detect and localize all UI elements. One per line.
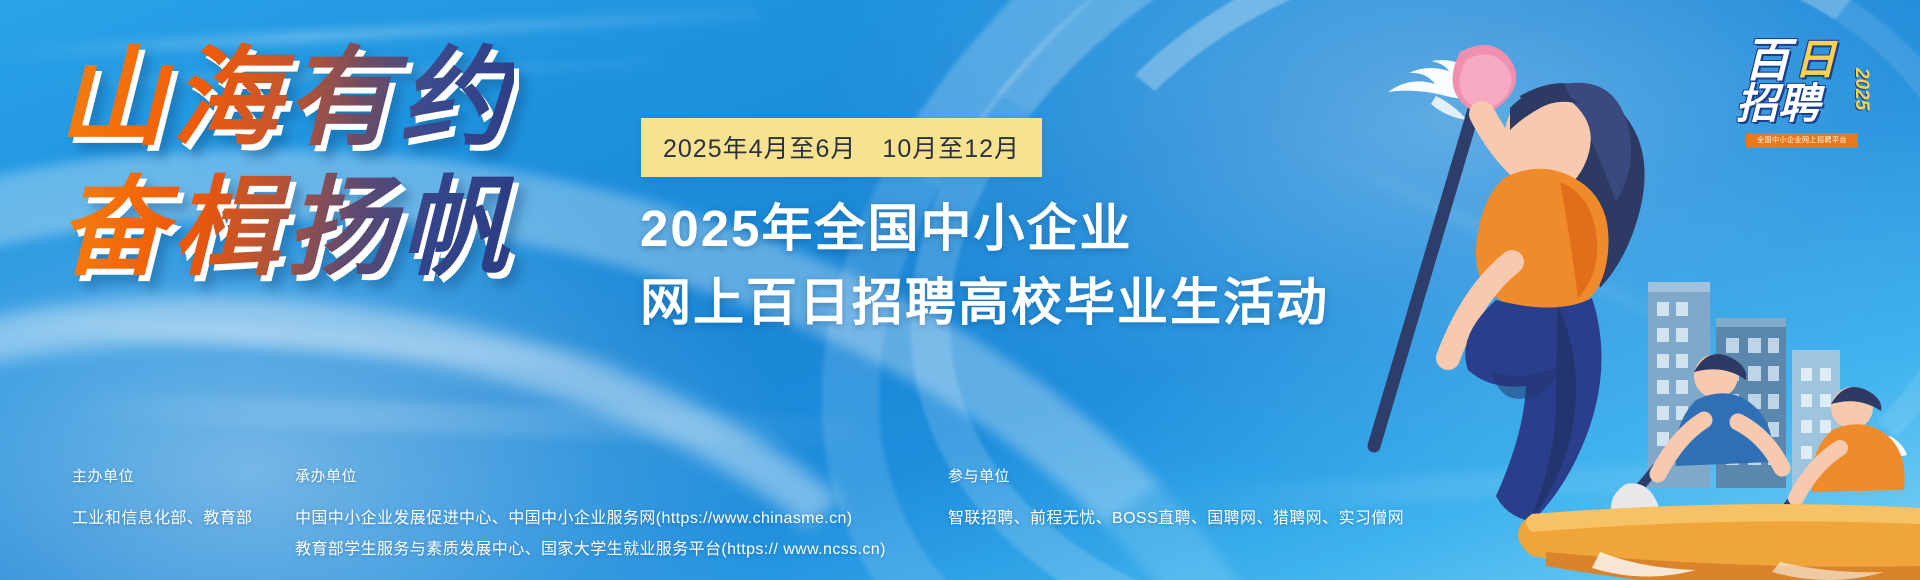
light-streak-decoration	[60, 390, 861, 448]
footer-column-participants: 参与单位 智联招聘、前程无忧、BOSS直聘、国聘网、猎聘网、实习僧网	[948, 465, 1404, 534]
light-streak-decoration	[1303, 137, 1777, 378]
light-streak-decoration	[0, 308, 620, 373]
undertaker-line-2: 教育部学生服务与素质发展中心、国家大学生就业服务平台(https:// www.…	[295, 534, 886, 565]
event-title-line-1: 2025年全国中小企业	[640, 192, 1329, 266]
seagull-icon	[1388, 60, 1495, 120]
seagull-icon-small	[1850, 435, 1907, 457]
logo-char-zhao: 招	[1736, 70, 1778, 131]
participants-line: 智联招聘、前程无忧、BOSS直聘、国聘网、猎聘网、实习僧网	[948, 503, 1404, 534]
organizer-heading: 主办单位	[72, 465, 252, 486]
participants-heading: 参与单位	[948, 465, 1404, 486]
headline-line-2: 奋楫扬帆	[58, 166, 514, 290]
headline-slogan: 山海有约 奋楫扬帆	[58, 36, 514, 290]
headline-line-1: 山海有约	[58, 36, 514, 160]
undertaker-heading: 承办单位	[295, 465, 886, 486]
event-title: 2025年全国中小企业 网上百日招聘高校毕业生活动	[640, 192, 1329, 340]
logo-tagline: 全国中小企业网上招聘平台	[1746, 133, 1858, 148]
footer-column-organizer: 主办单位 工业和信息化部、教育部	[72, 465, 252, 534]
logo-char-pin: 聘	[1778, 70, 1820, 131]
campaign-logo: 百 日 招 聘 2025 全国中小企业网上招聘平台	[1736, 24, 1868, 146]
event-date-badge: 2025年4月至6月 10月至12月	[641, 118, 1042, 177]
organizer-line: 工业和信息化部、教育部	[72, 503, 252, 534]
recruitment-campaign-banner: 山海有约 奋楫扬帆 2025年4月至6月 10月至12月 2025年全国中小企业…	[0, 0, 1920, 580]
rower-character-illustration	[1374, 45, 1645, 522]
logo-year: 2025	[1852, 68, 1870, 110]
footer-column-undertaker: 承办单位 中国中小企业发展促进中心、中国中小企业服务网(https://www.…	[295, 465, 886, 565]
undertaker-line-1: 中国中小企业发展促进中心、中国中小企业服务网(https://www.china…	[295, 503, 886, 534]
event-title-line-2: 网上百日招聘高校毕业生活动	[640, 266, 1329, 340]
footer-credits: 主办单位 工业和信息化部、教育部 承办单位 中国中小企业发展促进中心、中国中小企…	[0, 455, 1920, 580]
